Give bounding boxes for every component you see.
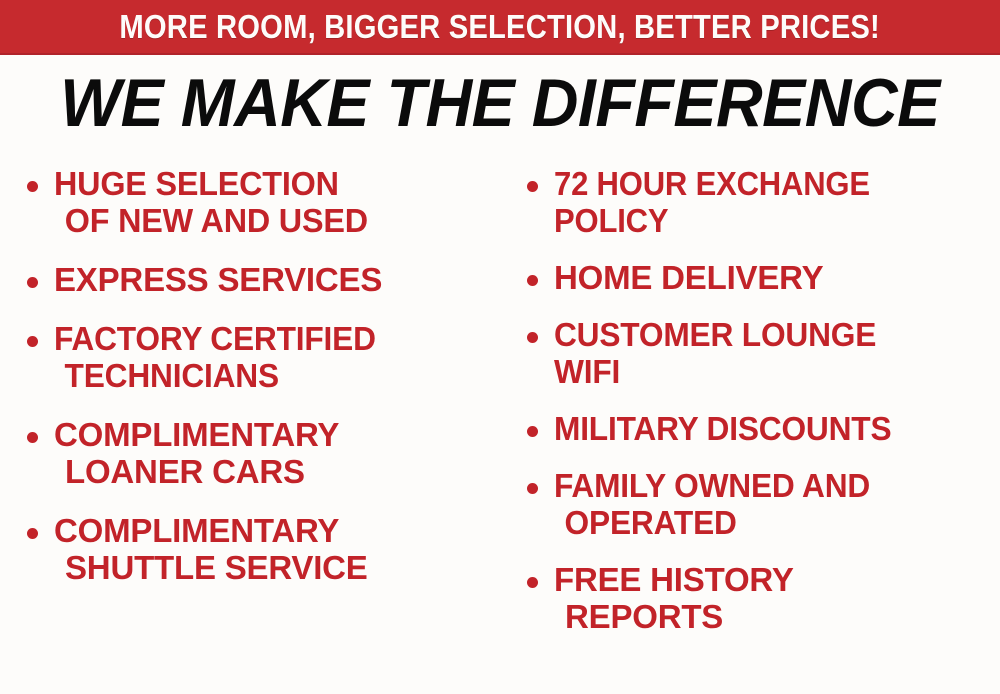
list-item-text: FREE HISTORY REPORTS — [554, 561, 1000, 635]
bullet-dot-icon — [527, 577, 538, 588]
list-item-line2: POLICY — [554, 202, 973, 239]
list-item-text: MILITARY DISCOUNTS — [554, 410, 982, 447]
list-item: HUGE SELECTION OF NEW AND USED — [14, 165, 500, 239]
bullet-dot-icon — [527, 426, 538, 437]
list-item: CUSTOMER LOUNGE WIFI — [514, 316, 1000, 390]
list-item-line1: FACTORY CERTIFIED — [54, 320, 482, 357]
list-item-text: COMPLIMENTARY LOANER CARS — [54, 416, 500, 490]
list-item-text: FACTORY CERTIFIED TECHNICIANS — [54, 320, 482, 394]
list-item-line2: TECHNICIANS — [54, 357, 482, 394]
list-item-text: FAMILY OWNED AND OPERATED — [554, 467, 982, 541]
features-columns: HUGE SELECTION OF NEW AND USED EXPRESS S… — [0, 155, 1000, 694]
bullet-dot-icon — [27, 432, 38, 443]
list-item: HOME DELIVERY — [514, 259, 1000, 296]
list-item-text: HUGE SELECTION OF NEW AND USED — [54, 165, 491, 239]
list-item-line2: OF NEW AND USED — [54, 202, 491, 239]
list-item: FREE HISTORY REPORTS — [514, 561, 1000, 635]
headline-container: WE MAKE THE DIFFERENCE — [0, 60, 1000, 145]
list-item-line1: HOME DELIVERY — [554, 259, 1000, 296]
list-item-text: CUSTOMER LOUNGE WIFI — [554, 316, 982, 390]
list-item: FACTORY CERTIFIED TECHNICIANS — [14, 320, 500, 394]
bullet-dot-icon — [527, 275, 538, 286]
bullet-dot-icon — [527, 483, 538, 494]
list-item: COMPLIMENTARY LOANER CARS — [14, 416, 500, 490]
list-item-line1: CUSTOMER LOUNGE — [554, 316, 982, 353]
list-item-text: 72 HOUR EXCHANGE POLICY — [554, 165, 973, 239]
bullet-dot-icon — [27, 277, 38, 288]
list-item-text: EXPRESS SERVICES — [54, 261, 500, 298]
list-item: FAMILY OWNED AND OPERATED — [514, 467, 1000, 541]
list-item-line1: COMPLIMENTARY — [54, 512, 500, 549]
top-banner: MORE ROOM, BIGGER SELECTION, BETTER PRIC… — [0, 0, 1000, 55]
bullet-dot-icon — [27, 528, 38, 539]
list-item-line2: WIFI — [554, 353, 982, 390]
list-item-line1: COMPLIMENTARY — [54, 416, 500, 453]
promo-poster: MORE ROOM, BIGGER SELECTION, BETTER PRIC… — [0, 0, 1000, 694]
list-item-line2: LOANER CARS — [54, 453, 500, 490]
bullet-dot-icon — [27, 181, 38, 192]
list-item-line1: 72 HOUR EXCHANGE — [554, 165, 973, 202]
features-column-right: 72 HOUR EXCHANGE POLICY HOME DELIVERY CU… — [514, 155, 1000, 694]
banner-text: MORE ROOM, BIGGER SELECTION, BETTER PRIC… — [120, 10, 881, 44]
list-item-line2: OPERATED — [554, 504, 982, 541]
list-item-line2: SHUTTLE SERVICE — [54, 549, 500, 586]
list-item: COMPLIMENTARY SHUTTLE SERVICE — [14, 512, 500, 586]
list-item-line1: EXPRESS SERVICES — [54, 261, 500, 298]
list-item: EXPRESS SERVICES — [14, 261, 500, 298]
list-item-line1: FAMILY OWNED AND — [554, 467, 982, 504]
features-column-left: HUGE SELECTION OF NEW AND USED EXPRESS S… — [14, 155, 500, 694]
list-item-line2: REPORTS — [554, 598, 1000, 635]
bullet-dot-icon — [527, 181, 538, 192]
bullet-dot-icon — [527, 332, 538, 343]
bullet-dot-icon — [27, 336, 38, 347]
page-title: WE MAKE THE DIFFERENCE — [60, 67, 940, 139]
list-item-line1: HUGE SELECTION — [54, 165, 491, 202]
list-item: 72 HOUR EXCHANGE POLICY — [514, 165, 1000, 239]
list-item: MILITARY DISCOUNTS — [514, 410, 1000, 447]
list-item-text: COMPLIMENTARY SHUTTLE SERVICE — [54, 512, 500, 586]
list-item-text: HOME DELIVERY — [554, 259, 1000, 296]
list-item-line1: MILITARY DISCOUNTS — [554, 410, 982, 447]
list-item-line1: FREE HISTORY — [554, 561, 1000, 598]
